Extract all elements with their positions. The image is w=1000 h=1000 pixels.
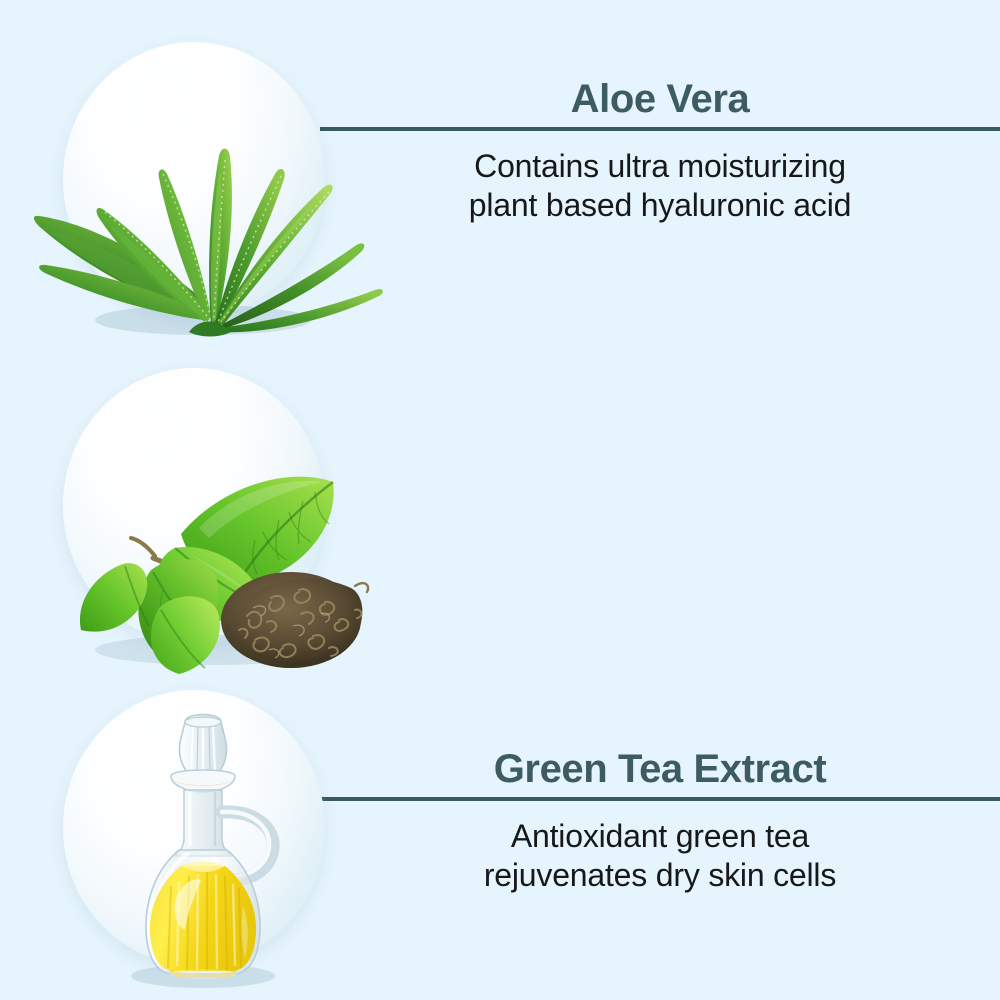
ingredient-section-green-tea-extract: Green Tea Extract Antioxidant green tea … <box>0 340 1000 670</box>
description-line-1: Contains ultra moisturizing <box>320 147 1000 185</box>
ingredient-image-circle-green-tea-extract <box>63 368 325 643</box>
ingredient-text-aloe-vera: Aloe Vera Contains ultra moisturizing pl… <box>320 78 1000 224</box>
ingredient-section-aloe-vera: Aloe Vera Contains ultra moisturizing pl… <box>0 0 1000 340</box>
ingredient-description-aloe-vera: Contains ultra moisturizing plant based … <box>320 131 1000 224</box>
ingredient-section-argan-oil: Argan Oil Skin protecting anti-inflammat… <box>0 670 1000 1000</box>
argan-oil-bottle-icon <box>3 680 403 1000</box>
green-tea-leaves-icon <box>3 358 403 688</box>
ingredient-image-circle-aloe-vera <box>63 42 325 317</box>
ingredient-image-circle-argan-oil <box>63 690 325 965</box>
description-line-2: plant based hyaluronic acid <box>320 186 1000 224</box>
ingredient-heading-aloe-vera: Aloe Vera <box>320 78 1000 127</box>
